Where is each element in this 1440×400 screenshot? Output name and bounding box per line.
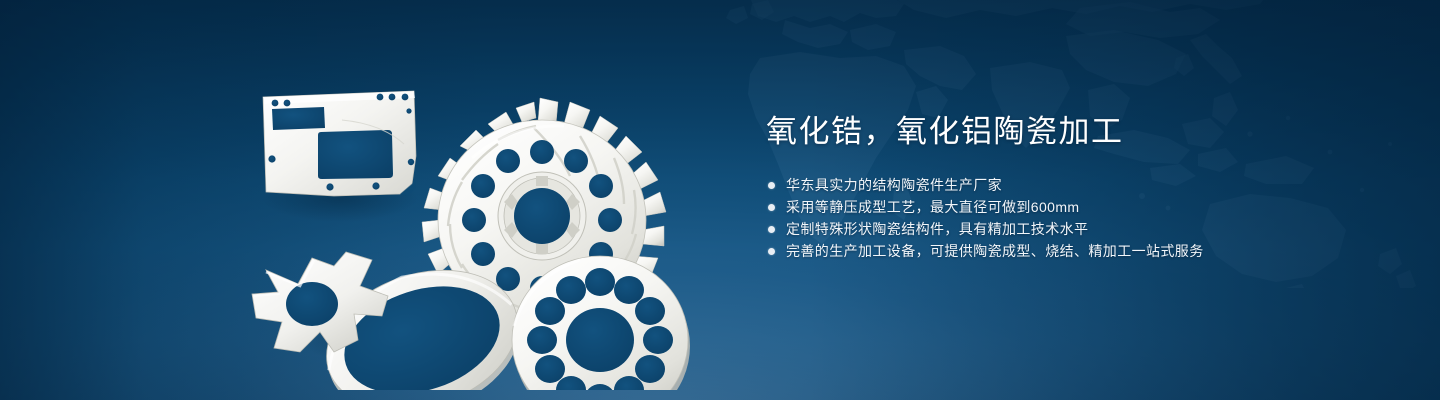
bullet-dot-icon <box>768 182 775 189</box>
list-item: 完善的生产加工设备，可提供陶瓷成型、烧结、精加工一站式服务 <box>766 240 1386 262</box>
banner-headline: 氧化锆，氧化铝陶瓷加工 <box>766 112 1386 152</box>
feature-bullet-list: 华东具实力的结构陶瓷件生产厂家 采用等静压成型工艺，最大直径可做到600mm 定… <box>766 174 1386 262</box>
bullet-text: 采用等静压成型工艺，最大直径可做到600mm <box>786 196 1079 218</box>
ceramic-plate-with-cutouts <box>263 91 416 196</box>
list-item: 华东具实力的结构陶瓷件生产厂家 <box>766 174 1386 196</box>
bullet-text: 定制特殊形状陶瓷结构件，具有精加工技术水平 <box>786 218 1088 240</box>
bullet-dot-icon <box>768 248 775 255</box>
list-item: 采用等静压成型工艺，最大直径可做到600mm <box>766 196 1386 218</box>
hero-banner: 氧化锆，氧化铝陶瓷加工 华东具实力的结构陶瓷件生产厂家 采用等静压成型工艺，最大… <box>0 0 1440 400</box>
bullet-text: 完善的生产加工设备，可提供陶瓷成型、烧结、精加工一站式服务 <box>786 240 1204 262</box>
bullet-text: 华东具实力的结构陶瓷件生产厂家 <box>786 174 1002 196</box>
bullet-dot-icon <box>768 204 775 211</box>
ceramic-products-image <box>232 40 712 390</box>
bullet-dot-icon <box>768 226 775 233</box>
banner-copy: 氧化锆，氧化铝陶瓷加工 华东具实力的结构陶瓷件生产厂家 采用等静压成型工艺，最大… <box>766 112 1386 262</box>
list-item: 定制特殊形状陶瓷结构件，具有精加工技术水平 <box>766 218 1386 240</box>
